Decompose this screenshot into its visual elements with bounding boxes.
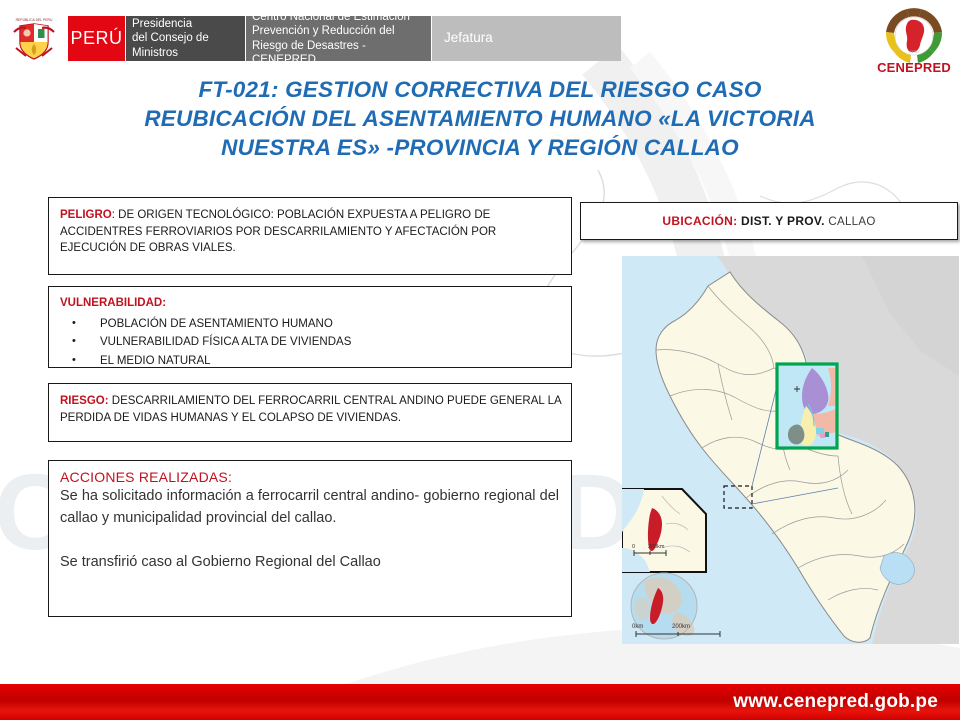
riesgo-body: DESCARRILAMIENTO DEL FERROCARRIL CENTRAL… xyxy=(60,395,561,424)
vulnerabilidad-list: POBLACIÓN DE ASENTAMIENTO HUMANO VULNERA… xyxy=(60,315,561,371)
svg-text:0km: 0km xyxy=(632,624,643,630)
ubicacion-place: CALLAO xyxy=(828,216,875,228)
pcm-line-1: Presidencia xyxy=(132,17,239,31)
cenepred-logo-wordmark: CENEPRED xyxy=(870,60,958,75)
header-peru-label: PERÚ xyxy=(68,16,125,61)
header-pcm-panel: Presidencia del Consejo de Ministros xyxy=(126,16,245,61)
acciones-paragraph-2: Se transfirió caso al Gobierno Regional … xyxy=(60,552,559,574)
title-line-2: REUBICACIÓN DEL ASENTAMIENTO HUMANO «LA … xyxy=(58,105,902,134)
peligro-box: PELIGRO: DE ORIGEN TECNOLÓGICO: POBLACIÓ… xyxy=(48,197,572,275)
acciones-realizadas-box: ACCIONES REALIZADAS: Se ha solicitado in… xyxy=(48,460,572,617)
header-cenepred-panel: Centro Nacional de Estimacion Prevención… xyxy=(246,16,431,61)
header-jefatura-panel: Jefatura xyxy=(432,16,621,61)
cenepred-line-1: Centro Nacional de Estimacion xyxy=(252,10,425,24)
ubicacion-label: UBICACIÓN: xyxy=(662,214,737,228)
ubicacion-dist-prov: DIST. Y PROV. xyxy=(741,214,825,228)
title-line-1: FT-021: GESTION CORRECTIVA DEL RIESGO CA… xyxy=(58,76,902,105)
cenepred-line-3: Riesgo de Desastres - CENEPRED xyxy=(252,39,425,68)
svg-text:REPUBLICA DEL PERU: REPUBLICA DEL PERU xyxy=(16,18,53,22)
vulnerabilidad-box: VULNERABILIDAD: POBLACIÓN DE ASENTAMIENT… xyxy=(48,286,572,368)
svg-text:0: 0 xyxy=(632,544,635,550)
acciones-label: ACCIONES REALIZADAS: xyxy=(60,469,559,485)
peru-coat-of-arms-icon: REPUBLICA DEL PERU xyxy=(8,14,60,62)
title-line-3: NUESTRA ES» -PROVINCIA Y REGIÓN CALLAO xyxy=(58,134,902,163)
vulnerabilidad-label: VULNERABILIDAD: xyxy=(60,295,561,312)
footer-bar: www.cenepred.gob.pe xyxy=(0,684,960,720)
peru-location-map: 0 200km 0km 200km xyxy=(622,256,959,644)
peligro-label: PELIGRO xyxy=(60,209,112,221)
map-inset-region: 0 200km xyxy=(622,489,706,572)
riesgo-label: RIESGO: xyxy=(60,395,109,407)
cenepred-line-2: Prevención y Reducción del xyxy=(252,24,425,38)
header-banner: REPUBLICA DEL PERU PERÚ Presidencia del … xyxy=(0,8,960,66)
svg-text:PERU: PERU xyxy=(910,50,920,54)
riesgo-box: RIESGO: DESCARRILAMIENTO DEL FERROCARRIL… xyxy=(48,383,572,442)
svg-text:200km: 200km xyxy=(672,624,690,630)
svg-text:200km: 200km xyxy=(648,544,665,550)
acciones-paragraph-1: Se ha solicitado información a ferrocarr… xyxy=(60,486,559,530)
ubicacion-line: UBICACIÓN: DIST. Y PROV. CALLAO xyxy=(662,214,875,228)
map-callao-inset xyxy=(777,364,837,448)
map-graphic: 0 200km 0km 200km xyxy=(622,256,959,644)
ubicacion-box: UBICACIÓN: DIST. Y PROV. CALLAO xyxy=(580,202,958,240)
pcm-line-2: del Consejo de Ministros xyxy=(132,31,239,60)
list-item: POBLACIÓN DE ASENTAMIENTO HUMANO xyxy=(60,315,561,334)
page-title: FT-021: GESTION CORRECTIVA DEL RIESGO CA… xyxy=(58,76,902,162)
list-item: EL MEDIO NATURAL xyxy=(60,352,561,371)
peligro-body: : DE ORIGEN TECNOLÓGICO: POBLACIÓN EXPUE… xyxy=(60,209,496,254)
list-item: VULNERABILIDAD FÍSICA ALTA DE VIVIENDAS xyxy=(60,333,561,352)
footer-url: www.cenepred.gob.pe xyxy=(733,691,938,713)
